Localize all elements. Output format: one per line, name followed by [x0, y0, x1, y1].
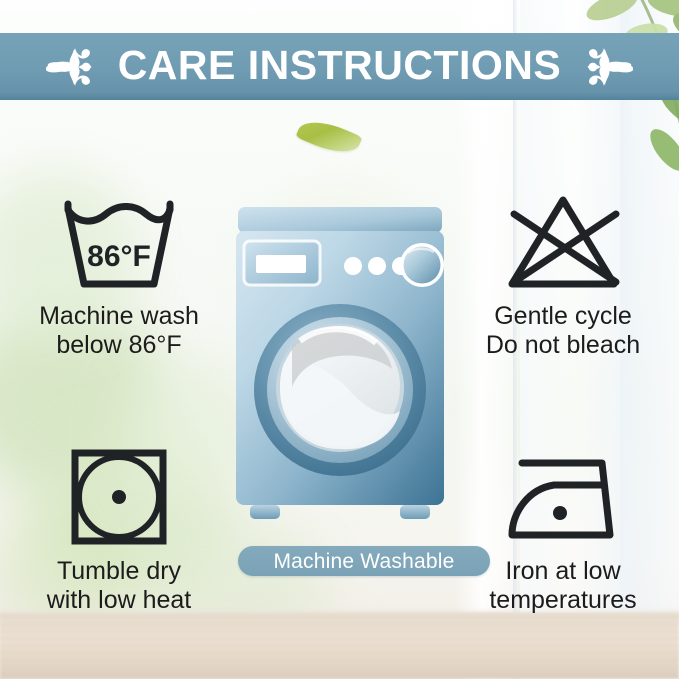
- machine-washable-label: Machine Washable: [273, 551, 454, 572]
- care-symbol-iron: Iron at low temperatures: [452, 445, 674, 614]
- machine-washable-badge: Machine Washable: [238, 546, 490, 576]
- caption-iron: Iron at low temperatures: [489, 557, 636, 614]
- washer-door: [254, 304, 426, 476]
- iron-heat-dot: [553, 506, 567, 520]
- caption-machine-wash: Machine wash below 86°F: [39, 302, 199, 359]
- triangle-crossed-icon: [498, 190, 628, 294]
- wash-temperature-label: 86°F: [87, 240, 151, 273]
- iron-icon: [498, 445, 628, 549]
- fleur-de-lis-icon: [577, 45, 633, 89]
- header-banner: CARE INSTRUCTIONS: [0, 33, 679, 100]
- washer-program-dial: [400, 243, 444, 287]
- care-symbol-machine-wash: 86°F Machine wash below 86°F: [8, 190, 230, 359]
- page-title: CARE INSTRUCTIONS: [118, 45, 562, 88]
- table-wood-grain: [0, 617, 679, 679]
- care-symbol-tumble-dry: Tumble dry with low heat: [8, 445, 230, 614]
- caption-tumble-dry: Tumble dry with low heat: [47, 557, 192, 614]
- caption-do-not-bleach: Gentle cycle Do not bleach: [486, 302, 640, 359]
- fleur-de-lis-icon: [46, 45, 102, 89]
- wash-tub-icon: 86°F: [54, 190, 184, 294]
- washing-machine-illustration: [232, 205, 448, 535]
- care-symbol-do-not-bleach: Gentle cycle Do not bleach: [452, 190, 674, 359]
- washer-top-lid: [238, 207, 442, 233]
- tumble-dry-heat-dot: [112, 490, 126, 504]
- washer-detergent-drawer: [244, 241, 320, 285]
- tumble-dry-square-icon: [67, 445, 171, 549]
- washer-feet: [250, 505, 430, 519]
